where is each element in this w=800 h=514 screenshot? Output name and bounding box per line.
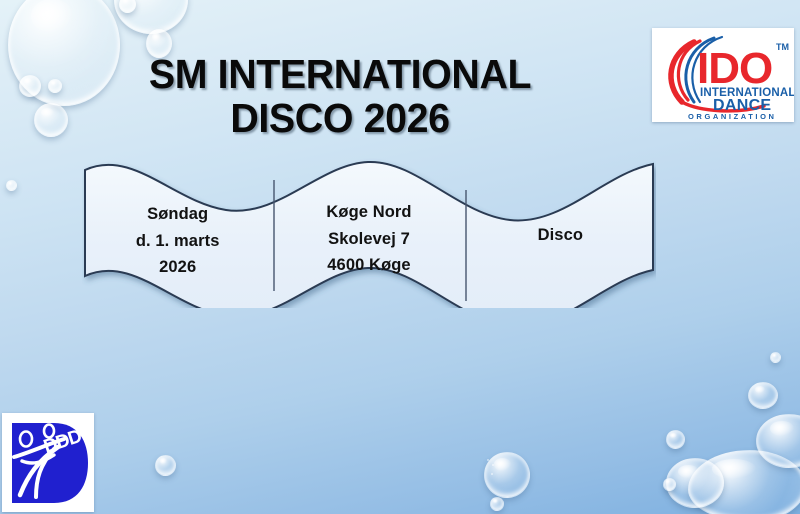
ribbon-venue-line-1: Køge Nord: [326, 199, 411, 226]
ido-logo-icon: IDO TM INTERNATIONAL DANCE ORGANIZATION: [652, 28, 794, 122]
bubble-icon: [748, 382, 778, 409]
ribbon-venue-line-2: Skolevej 7: [328, 226, 410, 253]
ddd-dancer-logo-icon: DDD: [2, 413, 94, 512]
bubble-icon: [666, 430, 685, 449]
ribbon-panel-date: Søndag d. 1. marts 2026: [82, 158, 273, 308]
bubble-icon: [491, 473, 493, 475]
ribbon-date-line-2: d. 1. marts: [136, 228, 220, 255]
svg-text:ORGANIZATION: ORGANIZATION: [688, 112, 777, 121]
ribbon-banner: Søndag d. 1. marts 2026 Køge Nord Skolev…: [82, 158, 656, 308]
bubble-icon: [492, 464, 494, 466]
ido-logo: IDO TM INTERNATIONAL DANCE ORGANIZATION: [652, 28, 794, 122]
bubble-icon: [490, 497, 504, 511]
bubble-icon: [48, 79, 62, 93]
bubble-icon: [155, 455, 176, 476]
svg-text:IDO: IDO: [697, 44, 772, 93]
ribbon-panel-discipline: Disco: [465, 158, 656, 308]
ribbon-discipline-label: Disco: [538, 222, 583, 249]
bubble-icon: [663, 478, 676, 491]
ribbon-date-line-1: Søndag: [147, 201, 208, 228]
ribbon-venue-line-3: 4600 Køge: [327, 252, 410, 279]
ido-trademark: TM: [776, 42, 789, 52]
title-line-1: SM INTERNATIONAL: [71, 52, 609, 96]
bubble-icon: [484, 452, 530, 498]
bubble-icon: [487, 459, 489, 461]
bubble-icon: [19, 75, 41, 97]
bubble-icon: [34, 103, 68, 137]
bubble-icon: [6, 180, 17, 191]
bubble-icon: [770, 352, 781, 363]
ribbon-date-line-3: 2026: [159, 254, 196, 281]
ribbon-panel-venue: Køge Nord Skolevej 7 4600 Køge: [273, 158, 464, 308]
ddd-logo: DDD: [2, 413, 94, 512]
title-line-2: DISCO 2026: [71, 96, 609, 140]
page-title: SM INTERNATIONAL DISCO 2026: [71, 52, 609, 141]
presentation-slide: SM INTERNATIONAL DISCO 2026 Søndag: [0, 0, 800, 514]
